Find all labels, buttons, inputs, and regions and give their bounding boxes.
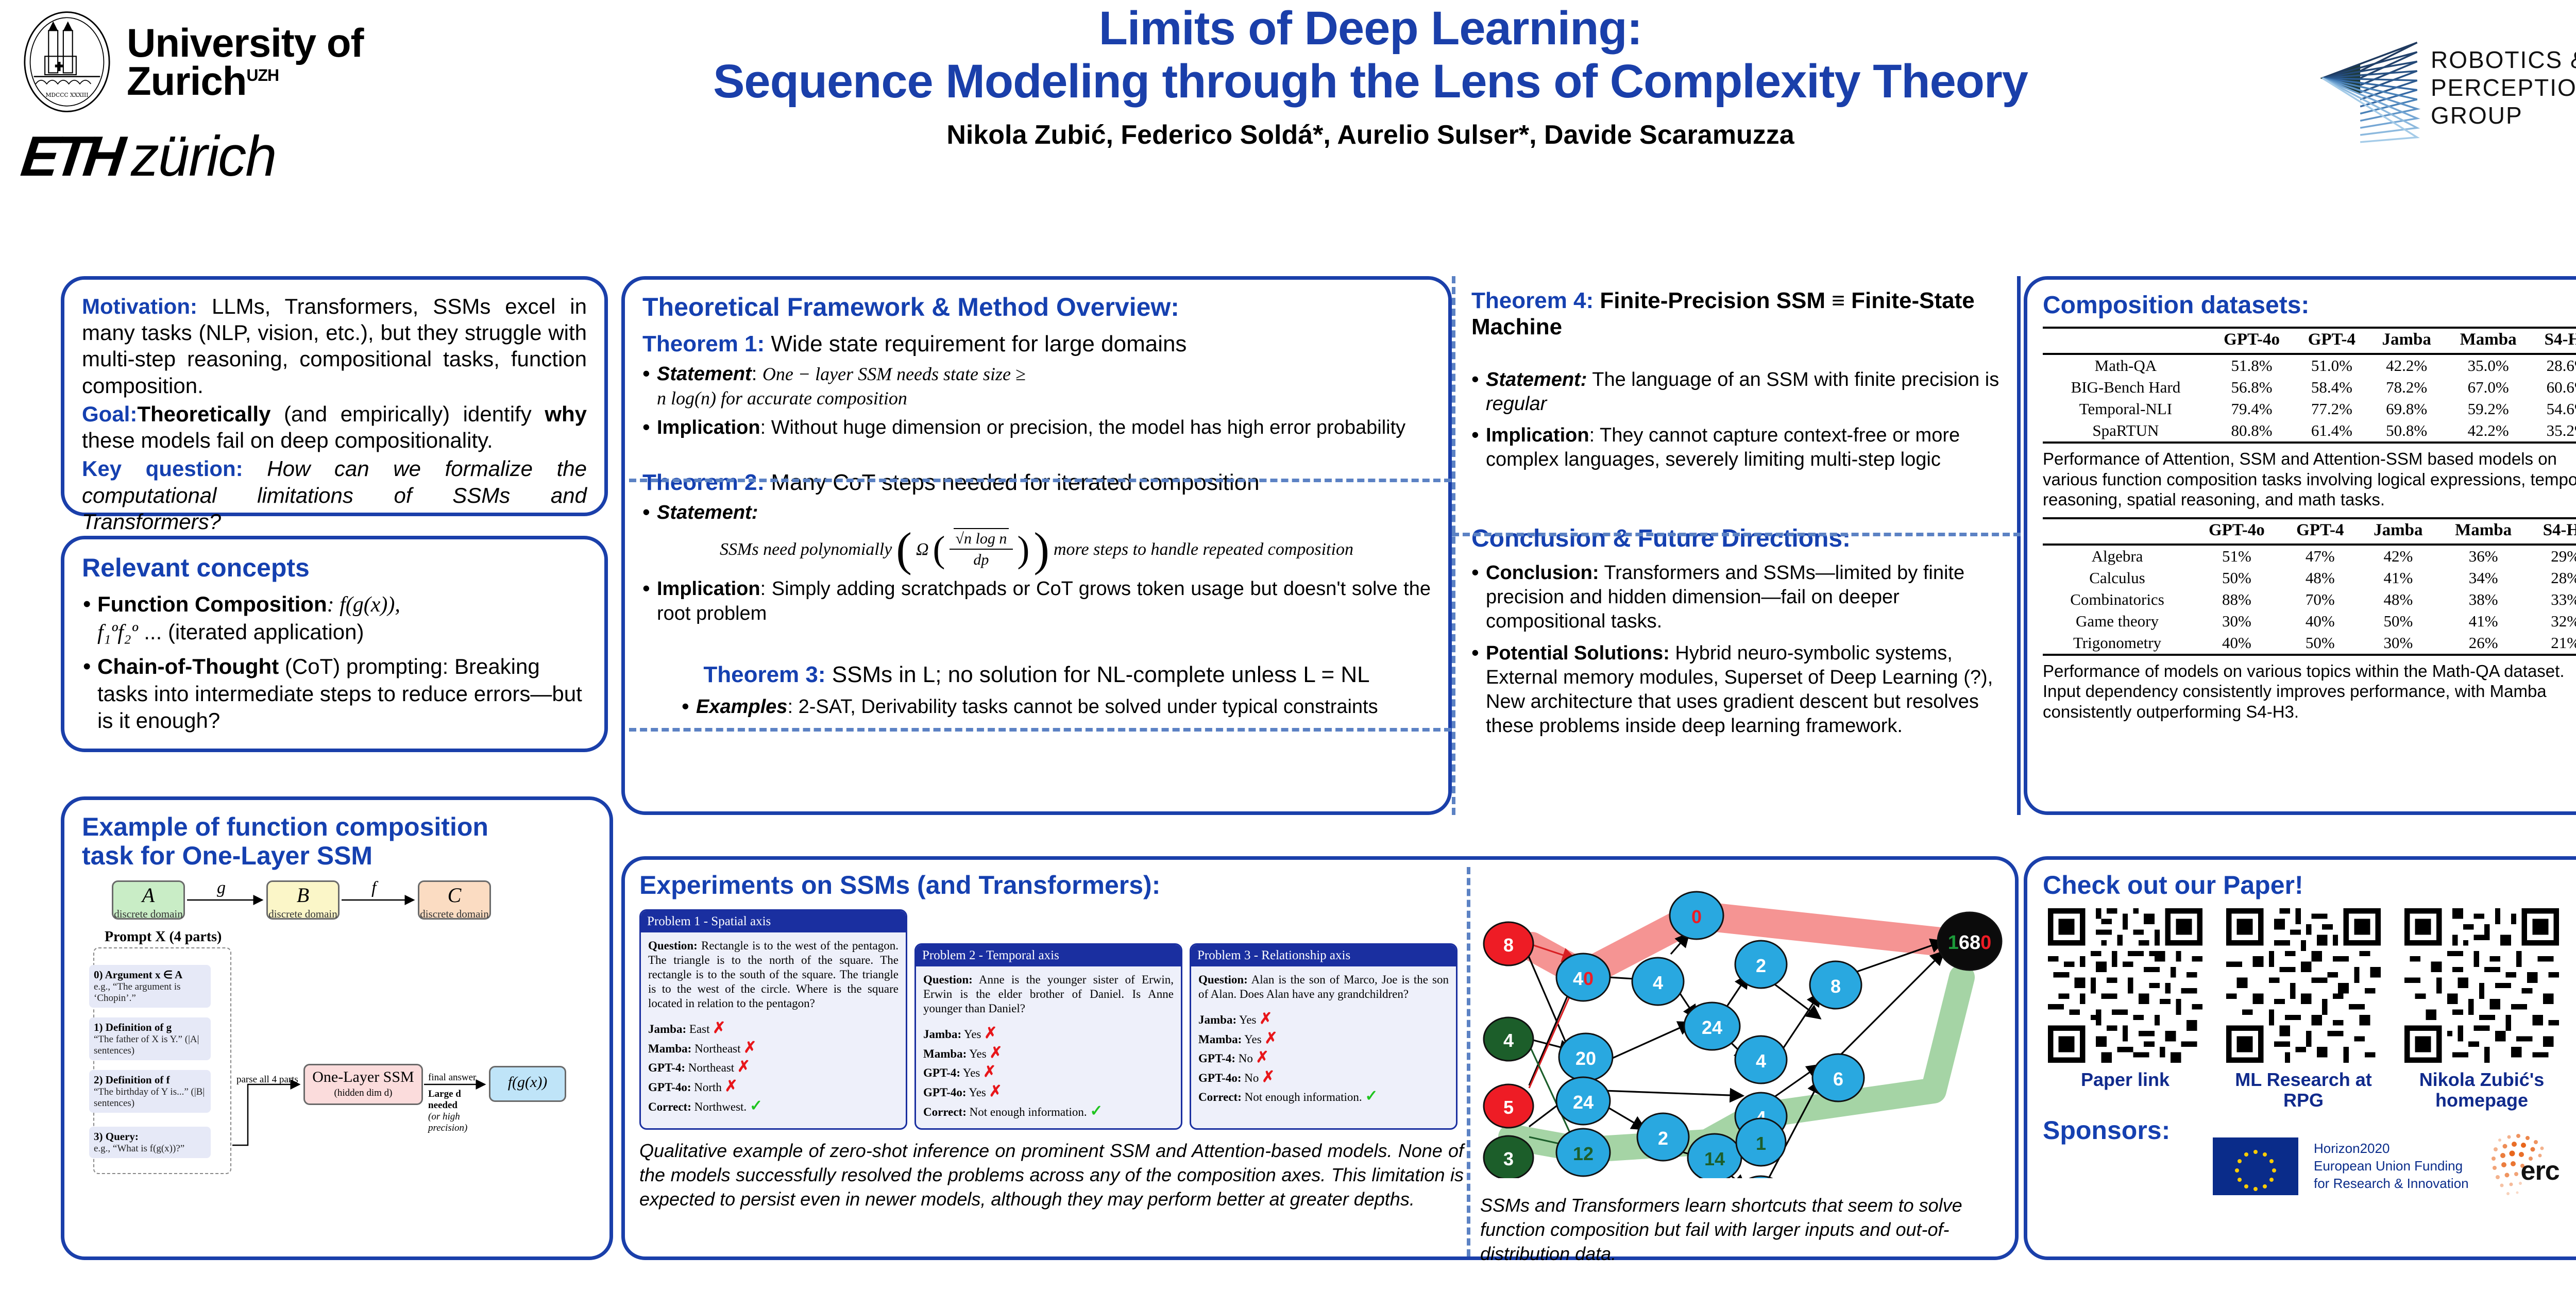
graph-output-node: 1680 (1938, 912, 2002, 970)
answer-row: GPT-4o: Yes ✗ (923, 1082, 1174, 1101)
problem-card-2: Problem 2 - Temporal axis Question: Anne… (914, 943, 1182, 1130)
uzh-line2-wrap: ZurichUZH (127, 62, 363, 100)
qr-code-icon[interactable] (2226, 908, 2381, 1063)
eth-wordmark-light: zürich (131, 124, 276, 189)
goal-bold-why: why (545, 402, 587, 426)
problem-card-3: Problem 3 - Relationship axis Question: … (1190, 943, 1458, 1130)
concept-iterated-math: f₁ºf₂º (97, 621, 138, 644)
large-d-line1: Large d (428, 1089, 461, 1100)
theorem4-conclusion-column: Theorem 4: Finite-Precision SSM ≡ Finite… (1456, 276, 2021, 751)
parse-label: parse all 4 parts (236, 1074, 298, 1085)
goal-bold-theoretically: Theoretically (137, 402, 270, 426)
graph-caption: SSMs and Transformers learn shortcuts th… (1480, 1194, 2011, 1266)
answer-row: Mamba: Northeast ✗ (648, 1039, 899, 1058)
svg-text:3: 3 (1503, 1148, 1514, 1169)
formula-omega: Ω (916, 540, 929, 559)
qr-label-paper: Paper link (2043, 1069, 2208, 1090)
problem-card-body: Question: Rectangle is to the west of th… (641, 932, 906, 1123)
eu-line3: for Research & Innovation (2314, 1175, 2469, 1193)
formula-numerator: √n log n (954, 528, 1009, 547)
example-title-line2: task for One-Layer SSM (82, 841, 372, 870)
concept-cot-label: Chain-of-Thought (97, 654, 279, 678)
motivation-panel: Motivation: LLMs, Transformers, SSMs exc… (61, 276, 608, 516)
answer-row: Mamba: Yes ✗ (1198, 1029, 1449, 1048)
answer-node: f(g(x)) (489, 1066, 566, 1102)
list-item: Conclusion: Transformers and SSMs—limite… (1471, 561, 2005, 634)
svg-text:4: 4 (1653, 972, 1663, 993)
svg-text:5: 5 (1503, 1097, 1514, 1118)
uzh-line2: Zurich (127, 58, 246, 104)
results-table-1: GPT-4o GPT-4 Jamba Mamba S4-H3 Math-QA51… (2043, 327, 2576, 444)
shortcut-graph-svg: 8 4 5 3 0 40 4 2 8 20 24 4 6 24 4 (1480, 848, 2026, 1178)
table-row: Math-QA51.8%51.0%42.2%35.0%28.6% (2043, 354, 2576, 377)
cross-icon: ✗ (989, 1044, 1002, 1061)
experiments-divider-dashed (1467, 867, 1470, 1256)
list-item: Statement: (642, 501, 1431, 525)
table-row: SpaRTUN80.8%61.4%50.8%42.2%35.2% (2043, 420, 2576, 443)
theorem3-list: Examples: 2-SAT, Derivability tasks cann… (642, 695, 1431, 719)
eu-funding-text: Horizon2020 European Union Funding for R… (2314, 1140, 2469, 1192)
prompt-part-1: 1) Definition of g“The father of X is Y.… (89, 1017, 211, 1060)
uzh-seal-icon: MDCCC XXXIII (21, 10, 113, 113)
formula-fraction: √n log n dp (950, 530, 1013, 569)
table-row: Combinatorics88%70%48%38%33% (2043, 589, 2576, 610)
problem-card-1: Problem 1 - Spatial axis Question: Recta… (639, 909, 907, 1130)
one-layer-ssm-node: One-Layer SSM(hidden dim d) (303, 1064, 423, 1105)
check-icon: ✓ (1090, 1102, 1103, 1119)
svg-text:20: 20 (1575, 1048, 1596, 1069)
list-item: Chain-of-Thought (CoT) prompting: Breaki… (82, 653, 587, 735)
svg-text:6: 6 (1833, 1068, 1843, 1090)
svg-text:1: 1 (1756, 1133, 1766, 1154)
theorem4-list: Statement: The language of an SSM with f… (1471, 368, 2005, 472)
final-answer-label: final answer (428, 1072, 476, 1083)
qr-item-paper[interactable]: Paper link (2043, 908, 2208, 1111)
relevant-concepts-list: Function Composition: f(g(x)), f₁ºf₂º ..… (82, 591, 587, 735)
list-item: Function Composition: f(g(x)), f₁ºf₂º ..… (82, 591, 587, 646)
composition-datasets-panel: Composition datasets: GPT-4o GPT-4 Jamba… (2024, 276, 2576, 815)
cross-icon: ✗ (743, 1039, 756, 1056)
check-icon: ✓ (1365, 1088, 1378, 1105)
svg-text:4: 4 (1756, 1050, 1766, 1072)
theorem1-heading: Theorem 1: Wide state requirement for la… (642, 331, 1431, 357)
svg-text:MDCCC XXXIII: MDCCC XXXIII (45, 92, 88, 98)
problem-answers: Jamba: East ✗ Mamba: Northeast ✗ GPT-4: … (648, 1019, 899, 1115)
large-d-line3: (or high (428, 1111, 460, 1123)
problem-card-header: Problem 2 - Temporal axis (916, 945, 1181, 966)
formula-inner-paren-open: ( (933, 538, 945, 560)
composition-datasets-title: Composition datasets: (2043, 291, 2576, 319)
check-icon: ✓ (750, 1097, 762, 1114)
uzh-logo: MDCCC XXXIII University of ZurichUZH (21, 5, 443, 118)
list-item: Examples: 2-SAT, Derivability tasks cann… (682, 695, 1431, 719)
author-list: Nikola Zubić, Federico Soldá*, Aurelio S… (453, 120, 2287, 150)
eth-logo: ETH zürich (22, 124, 444, 196)
page-title-line2: Sequence Modeling through the Lens of Co… (453, 55, 2287, 108)
answer-row: Jamba: Yes ✗ (923, 1024, 1174, 1043)
svg-text:24: 24 (1702, 1017, 1722, 1038)
cross-icon: ✗ (989, 1083, 1002, 1100)
svg-text:2: 2 (1658, 1128, 1668, 1149)
goal-mid: (and empirically) identify (270, 402, 545, 426)
table-row: Temporal-NLI79.4%77.2%69.8%59.2%54.6% (2043, 398, 2576, 420)
theory-title: Theoretical Framework & Method Overview: (642, 292, 1431, 322)
conclusion-section: Conclusion & Future Directions: Conclusi… (1456, 514, 2021, 751)
svg-text:8: 8 (1503, 935, 1514, 956)
theorem2-formula: SSMs need polynomially ( Ω ( √n log n dp… (642, 530, 1431, 569)
experiments-panel: Experiments on SSMs (and Transformers): … (621, 856, 2019, 1260)
list-item: Implication: They cannot capture context… (1471, 423, 2005, 472)
eu-flag-icon (2213, 1137, 2298, 1195)
conclusion-list: Conclusion: Transformers and SSMs—limite… (1471, 561, 2005, 738)
answer-row: GPT-4: Northeast ✗ (648, 1058, 899, 1077)
relevant-concepts-panel: Relevant concepts Function Composition: … (61, 536, 608, 752)
domain-node-b: Bdiscrete domain (266, 880, 340, 920)
paper-links-title: Check out our Paper! (2043, 870, 2576, 900)
rpg-line1: ROBOTICS & (2431, 46, 2576, 74)
theorem2-list: Statement: (642, 501, 1431, 525)
paper-links-panel: Check out our Paper! (2024, 856, 2576, 1260)
answer-row: GPT-4o: North ✗ (648, 1077, 899, 1096)
table-row: Game theory30%40%50%41%32% (2043, 610, 2576, 632)
table-row: BIG-Bench Hard56.8%58.4%78.2%67.0%60.6% (2043, 377, 2576, 398)
theorem1-list: Statement: One − layer SSM needs state s… (642, 362, 1431, 440)
svg-text:12: 12 (1573, 1143, 1594, 1164)
domain-node-a: Adiscrete domain (112, 880, 185, 920)
theorem2-implication-list: Implication: Simply adding scratchpads o… (642, 577, 1431, 625)
answer-row: Jamba: Yes ✗ (1198, 1010, 1449, 1029)
relevant-concepts-title: Relevant concepts (82, 553, 587, 583)
large-d-line4: precision) (428, 1123, 467, 1134)
edge-label-f: f (371, 878, 376, 898)
eu-line1: Horizon2020 (2314, 1140, 2469, 1158)
domain-node-c: Cdiscrete domain (418, 880, 491, 920)
problem-cards-row: Problem 1 - Spatial axis Question: Recta… (639, 909, 1459, 1130)
answer-row: Jamba: East ✗ (648, 1019, 899, 1038)
poster-header: MDCCC XXXIII University of ZurichUZH ETH… (0, 0, 2576, 242)
answer-row: GPT-4: No ✗ (1198, 1048, 1449, 1067)
goal-paragraph: Goal:Theoretically (and empirically) ide… (82, 401, 587, 453)
key-question-label: Key question: (82, 456, 243, 481)
theorem4-section: Theorem 4: Finite-Precision SSM ≡ Finite… (1456, 276, 2021, 485)
cross-icon: ✗ (983, 1063, 996, 1080)
cross-icon: ✗ (737, 1058, 750, 1075)
answer-row: Correct: Not enough information. ✓ (1198, 1087, 1449, 1106)
theorem4-conclusion-divider (1452, 533, 2021, 536)
cross-icon: ✗ (984, 1025, 997, 1042)
rpg-mark-icon (2308, 15, 2427, 160)
qr-code-icon[interactable] (2048, 908, 2202, 1063)
table-1-caption: Performance of Attention, SSM and Attent… (2043, 449, 2576, 510)
formula-inner-paren-close: ) (1017, 538, 1029, 560)
column-divider-dashed (1452, 276, 1455, 815)
svg-text:4: 4 (1503, 1030, 1514, 1051)
table-row: Calculus50%48%41%34%28% (2043, 567, 2576, 589)
table-header-row: GPT-4o GPT-4 Jamba Mamba S4-H3 (2043, 328, 2576, 354)
formula-paren-open: ( (896, 535, 912, 564)
cross-icon: ✗ (1256, 1049, 1269, 1066)
eu-line2: European Union Funding (2314, 1158, 2469, 1175)
title-block: Limits of Deep Learning: Sequence Modeli… (453, 2, 2287, 150)
theorem2-block: Theorem 2: Many CoT steps needed for ite… (642, 470, 1431, 625)
theorem4-heading: Theorem 4: Finite-Precision SSM ≡ Finite… (1471, 287, 2005, 340)
cross-icon: ✗ (725, 1078, 738, 1095)
list-item: Implication: Simply adding scratchpads o… (642, 577, 1431, 625)
edge-label-g: g (217, 878, 226, 898)
formula-denominator: dp (973, 550, 989, 569)
rpg-line3: GROUP (2431, 101, 2576, 129)
problem-card-body: Question: Alan is the son of Marco, Joe … (1191, 966, 1456, 1114)
rpg-line2: PERCEPTION (2431, 74, 2576, 101)
theory-divider-2 (629, 728, 1451, 732)
list-item: Statement: One − layer SSM needs state s… (642, 362, 1431, 411)
problem-answers: Jamba: Yes ✗ Mamba: Yes ✗ GPT-4: No ✗ GP… (1198, 1010, 1449, 1106)
list-item: Statement: The language of an SSM with f… (1471, 368, 2005, 416)
motivation-label: Motivation: (82, 294, 197, 318)
answer-row: Mamba: Yes ✗ (923, 1044, 1174, 1063)
conclusion-title: Conclusion & Future Directions: (1471, 525, 2005, 553)
cross-icon: ✗ (713, 1020, 725, 1037)
example-figure: Adiscrete domain Bdiscrete domain Cdiscr… (82, 877, 597, 1228)
list-item: Potential Solutions: Hybrid neuro-symbol… (1471, 641, 2005, 738)
table-2-caption: Performance of models on various topics … (2043, 661, 2576, 722)
answer-row: Correct: Northwest. ✓ (648, 1097, 899, 1116)
qr-label-rpg: ML Research at RPG (2221, 1069, 2386, 1111)
theory-panel: Theoretical Framework & Method Overview:… (621, 276, 1452, 815)
formula-suffix: more steps to handle repeated compositio… (1054, 540, 1353, 559)
rpg-logo: ROBOTICS & PERCEPTION GROUP (2308, 10, 2576, 165)
rpg-wordmark: ROBOTICS & PERCEPTION GROUP (2431, 46, 2576, 130)
prompt-part-0: 0) Argument x ∈ Ae.g., “The argument is … (89, 965, 211, 1008)
answer-row: Correct: Not enough information. ✓ (923, 1102, 1174, 1121)
qr-item-homepage[interactable]: Nikola Zubić's homepage (2399, 908, 2564, 1111)
erc-wordmark: erc (2521, 1156, 2560, 1186)
goal-label: Goal: (82, 402, 137, 426)
erc-logo: erc (2484, 1128, 2562, 1205)
problem-card-body: Question: Anne is the younger sister of … (916, 966, 1181, 1128)
concept-iterated-text: ... (iterated application) (138, 620, 364, 644)
prompt-label: Prompt X (4 parts) (105, 929, 222, 945)
concept-function-composition-math: : f(g(x)), (327, 593, 400, 617)
theorem2-heading: Theorem 2: Many CoT steps needed for ite… (642, 470, 1431, 496)
formula-paren-close: ) (1033, 535, 1049, 564)
qr-item-rpg[interactable]: ML Research at RPG (2221, 908, 2386, 1111)
sponsors-row: Horizon2020 European Union Funding for R… (2213, 1128, 2576, 1205)
svg-text:14: 14 (1704, 1148, 1725, 1169)
svg-text:2: 2 (1756, 955, 1766, 976)
problem-answers: Jamba: Yes ✗ Mamba: Yes ✗ GPT-4: Yes ✗ G… (923, 1024, 1174, 1120)
example-title-line1: Example of function composition (82, 812, 488, 841)
qr-code-icon[interactable] (2404, 908, 2559, 1063)
problem-card-header: Problem 1 - Spatial axis (641, 911, 906, 932)
shortcut-graph-figure: 8 4 5 3 0 40 4 2 8 20 24 4 6 24 4 (1480, 848, 2026, 1204)
example-composition-panel: Example of function composition task for… (61, 796, 613, 1260)
svg-text:24: 24 (1573, 1092, 1594, 1113)
cross-icon: ✗ (1259, 1010, 1272, 1027)
concept-function-composition-label: Function Composition (97, 592, 327, 616)
table-row: Algebra51%47%42%36%29% (2043, 545, 2576, 567)
cross-icon: ✗ (1262, 1068, 1275, 1085)
qr-codes-row: Paper link (2043, 908, 2576, 1111)
prompt-part-2: 2) Definition of f“The birthday of Y is.… (89, 1070, 211, 1113)
cross-icon: ✗ (1264, 1030, 1277, 1047)
goal-tail: these models fail on deep compositionali… (82, 428, 493, 452)
example-title: Example of function composition task for… (82, 812, 592, 870)
key-question-paragraph: Key question: How can we formalize the c… (82, 455, 587, 535)
table-header-row: GPT-4o GPT-4 Jamba Mamba S4-H3 (2043, 518, 2576, 545)
results-table-2: GPT-4o GPT-4 Jamba Mamba S4-H3 Algebra51… (2043, 517, 2576, 656)
uzh-line1: University of (127, 24, 363, 62)
page-title-line1: Limits of Deep Learning: (453, 2, 2287, 55)
qr-label-homepage: Nikola Zubić's homepage (2399, 1069, 2564, 1111)
table-row: Trigonometry40%50%30%26%21% (2043, 632, 2576, 655)
problem-card-header: Problem 3 - Relationship axis (1191, 945, 1456, 966)
theory-divider-1 (629, 479, 1451, 482)
motivation-paragraph: Motivation: LLMs, Transformers, SSMs exc… (82, 293, 587, 399)
eth-wordmark-bold: ETH (18, 124, 124, 189)
answer-row: GPT-4o: No ✗ (1198, 1068, 1449, 1087)
svg-text:0: 0 (1691, 906, 1702, 927)
experiments-caption: Qualitative example of zero-shot inferen… (639, 1139, 1464, 1211)
column-right-edge (2017, 276, 2021, 815)
uzh-sup: UZH (246, 66, 279, 84)
list-item: Implication: Without huge dimension or p… (642, 416, 1431, 440)
svg-text:8: 8 (1831, 976, 1841, 997)
prompt-part-3: 3) Query:e.g., “What is f(g(x))?” (89, 1127, 211, 1158)
large-d-line2: needed (428, 1100, 457, 1111)
answer-row: GPT-4: Yes ✗ (923, 1063, 1174, 1082)
uzh-wordmark: University of ZurichUZH (127, 24, 363, 100)
formula-prefix: SSMs need polynomially (720, 540, 892, 559)
theorem3-block: Theorem 3: SSMs in L; no solution for NL… (642, 662, 1431, 719)
theorem3-heading: Theorem 3: SSMs in L; no solution for NL… (703, 662, 1369, 688)
